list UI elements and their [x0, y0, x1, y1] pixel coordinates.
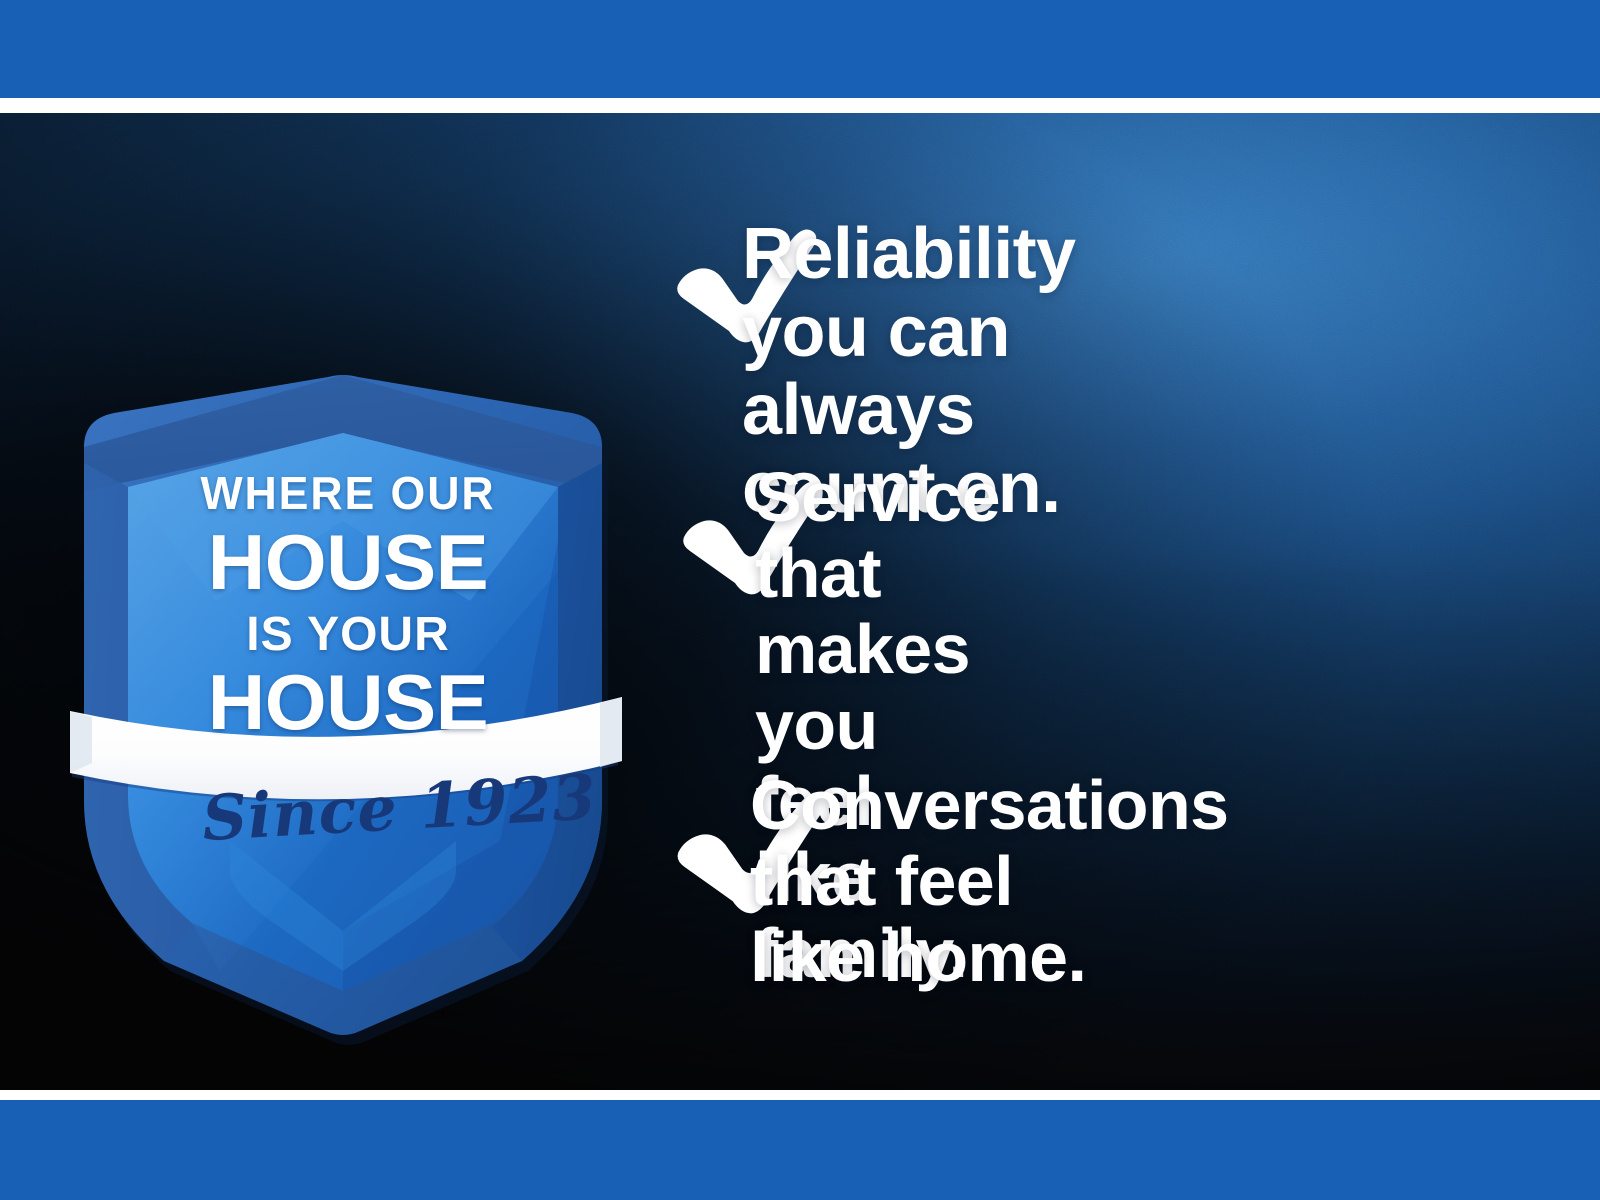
main-dark-panel: WHERE OUR HOUSE IS YOUR HOUSE Since 1923… [0, 113, 1600, 1090]
shield-line-1: WHERE OUR [181, 471, 515, 516]
bullet-text-3: Conversations that feel like home. [750, 768, 1228, 996]
ribbon-left-tip [70, 711, 92, 773]
top-blue-band [0, 0, 1600, 98]
shield-logo: WHERE OUR HOUSE IS YOUR HOUSE Since 1923 [70, 371, 616, 1043]
bottom-white-divider [0, 1090, 1600, 1100]
bottom-blue-band [0, 1100, 1600, 1200]
shield-line-2: HOUSE [173, 524, 524, 600]
shield-tagline: WHERE OUR HOUSE IS YOUR HOUSE [176, 471, 520, 740]
top-white-divider [0, 98, 1600, 113]
shield-line-3: IS YOUR [176, 611, 520, 658]
promo-graphic: WHERE OUR HOUSE IS YOUR HOUSE Since 1923… [0, 0, 1600, 1200]
shield-line-4: HOUSE [173, 664, 524, 740]
ribbon-right-tip [600, 697, 622, 767]
